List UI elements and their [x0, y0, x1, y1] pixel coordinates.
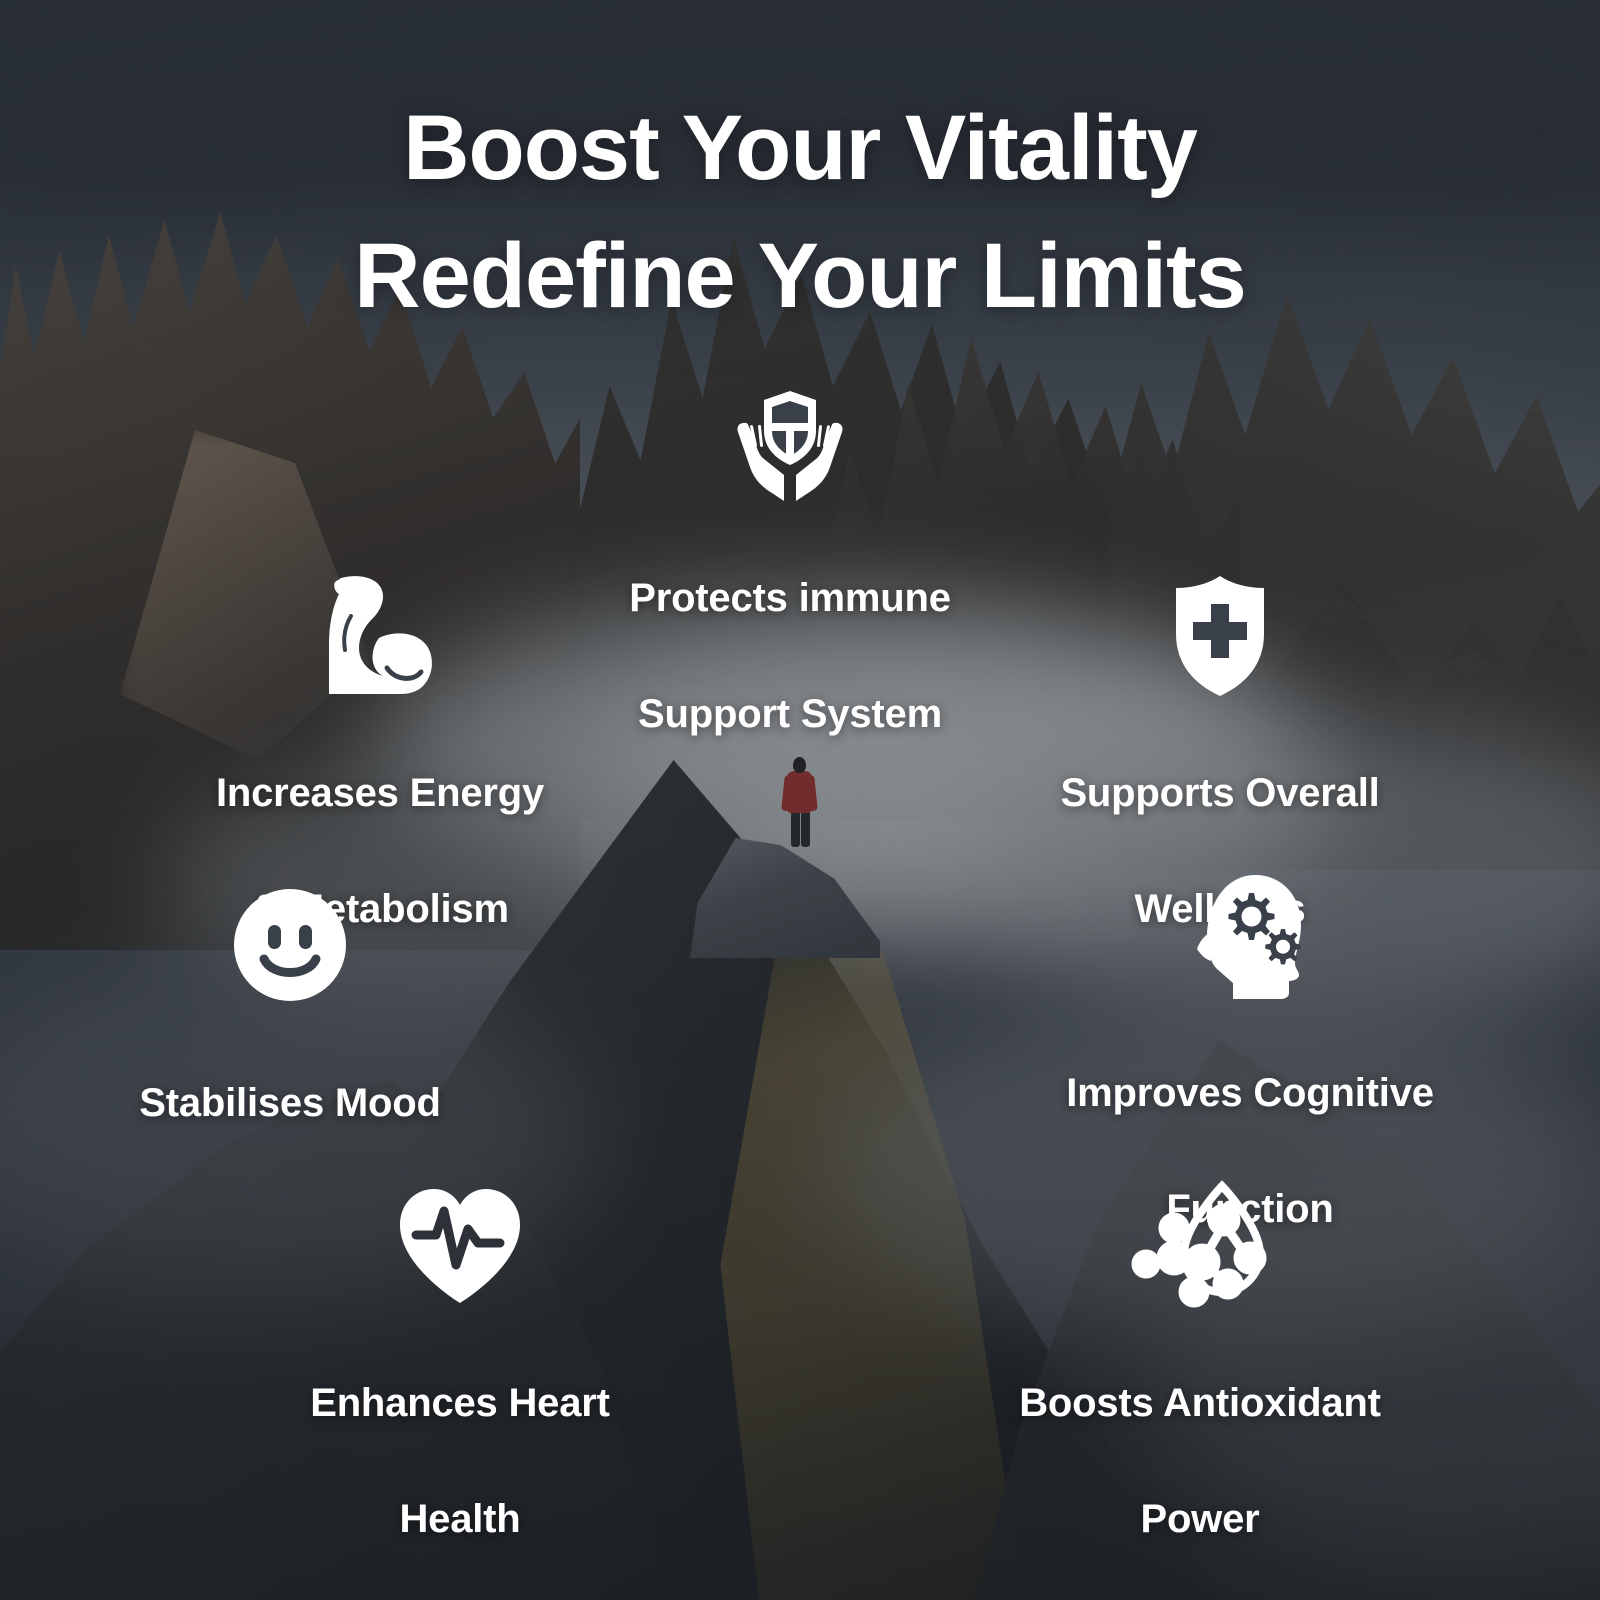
- heart-pulse-icon: [230, 1180, 690, 1310]
- feature-label-line-1: Boosts Antioxidant: [1019, 1381, 1381, 1425]
- poster-content: Boost Your Vitality Redefine Your Limits: [0, 0, 1600, 1600]
- headline-line-2: Redefine Your Limits: [0, 212, 1600, 340]
- feature-label-line-1: Supports Overall: [1060, 771, 1379, 815]
- shield-in-hands-icon: [520, 375, 1060, 505]
- feature-label-line-1: Protects immune: [629, 576, 951, 620]
- feature-label-line-2: Power: [1140, 1497, 1259, 1541]
- feature-antioxidant: Boosts Antioxidant Power: [960, 1180, 1440, 1548]
- feature-mood: Stabilises Mood: [70, 880, 510, 1132]
- page-title: Boost Your Vitality Redefine Your Limits: [0, 84, 1600, 340]
- feature-label-line-1: Stabilises Mood: [139, 1081, 441, 1125]
- feature-label: Boosts Antioxidant Power: [960, 1316, 1440, 1548]
- feature-label-line-1: Increases Energy: [216, 771, 544, 815]
- head-gears-icon: [1000, 870, 1500, 1000]
- headline-line-1: Boost Your Vitality: [403, 97, 1197, 199]
- feature-label: Stabilises Mood: [70, 1016, 510, 1132]
- shield-cross-icon: [1000, 570, 1440, 700]
- flexed-bicep-icon: [120, 570, 640, 700]
- poster: Boost Your Vitality Redefine Your Limits: [0, 0, 1600, 1600]
- feature-label-line-2: Health: [399, 1497, 520, 1541]
- droplet-molecule-icon: [960, 1180, 1440, 1310]
- feature-label-line-2: Support System: [638, 692, 942, 736]
- feature-label-line-1: Enhances Heart: [310, 1381, 610, 1425]
- feature-label: Enhances Heart Health: [230, 1316, 690, 1548]
- feature-heart: Enhances Heart Health: [230, 1180, 690, 1548]
- smiley-face-icon: [70, 880, 510, 1010]
- feature-label-line-1: Improves Cognitive: [1066, 1071, 1434, 1115]
